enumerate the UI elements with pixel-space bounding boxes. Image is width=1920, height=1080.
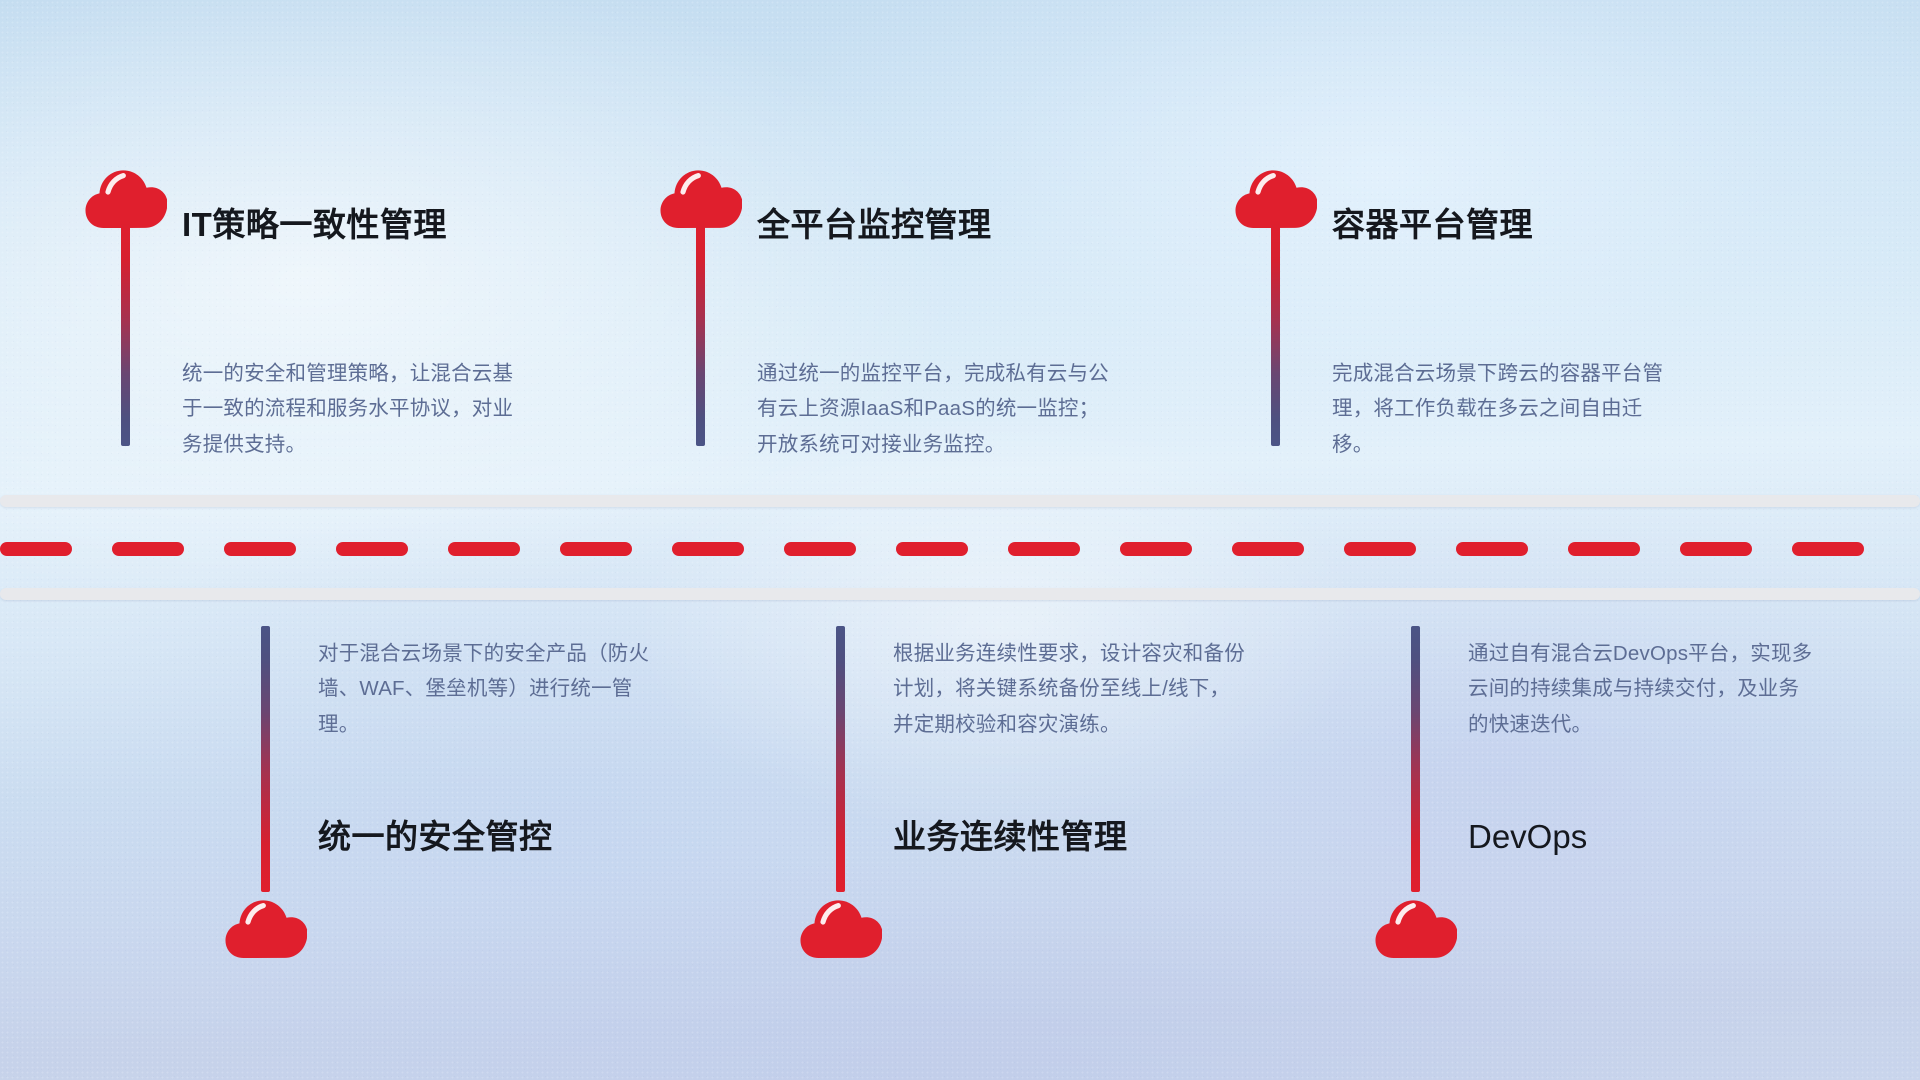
stem-line (261, 626, 270, 892)
node-desc-container-platform: 完成混合云场景下跨云的容器平台管理，将工作负载在多云之间自由迁移。 (1332, 356, 1677, 462)
node-title-container-platform: 容器平台管理 (1332, 208, 1533, 241)
node-desc-it-policy-consistency: 统一的安全和管理策略，让混合云基于一致的流程和服务水平协议，对业务提供支持。 (182, 356, 527, 462)
stem-line (1411, 626, 1420, 892)
road-dash-segment (1456, 542, 1528, 556)
road-edge-line-bottom (0, 588, 1920, 600)
road-dash-segment (560, 542, 632, 556)
node-desc-unified-security-control: 对于混合云场景下的安全产品（防火墙、WAF、堡垒机等）进行统一管理。 (318, 636, 663, 742)
cloud-icon (1373, 892, 1457, 960)
cloud-icon (223, 892, 307, 960)
road-dash-segment (1680, 542, 1752, 556)
road-dash-segment (448, 542, 520, 556)
node-title-unified-security-control: 统一的安全管控 (318, 820, 553, 853)
road-dash-segment (896, 542, 968, 556)
stem-line (1271, 218, 1280, 446)
node-title-business-continuity: 业务连续性管理 (893, 820, 1128, 853)
road-dash-segment (336, 542, 408, 556)
cloud-icon (798, 892, 882, 960)
infographic-canvas: IT策略一致性管理 统一的安全和管理策略，让混合云基于一致的流程和服务水平协议，… (0, 0, 1920, 1080)
road-edge-line-top (0, 495, 1920, 507)
road-dash-segment (784, 542, 856, 556)
road-dash-segment (672, 542, 744, 556)
road-dash-segment (112, 542, 184, 556)
stem-line (121, 218, 130, 446)
road-dash-segment (1232, 542, 1304, 556)
node-title-devops: DevOps (1468, 820, 1587, 853)
node-desc-devops: 通过自有混合云DevOps平台，实现多云间的持续集成与持续交付，及业务的快速迭代… (1468, 636, 1813, 742)
road-dashed-center-line (0, 542, 1920, 556)
road-dash-segment (0, 542, 72, 556)
stem-line (696, 218, 705, 446)
stem-line (836, 626, 845, 892)
node-desc-business-continuity: 根据业务连续性要求，设计容灾和备份计划，将关键系统备份至线上/线下，并定期校验和… (893, 636, 1248, 742)
road-dash-segment (1120, 542, 1192, 556)
node-title-full-platform-monitoring: 全平台监控管理 (757, 208, 992, 241)
node-desc-full-platform-monitoring: 通过统一的监控平台，完成私有云与公有云上资源IaaS和PaaS的统一监控；开放系… (757, 356, 1112, 462)
road-dash-segment (1008, 542, 1080, 556)
road-dash-segment (1568, 542, 1640, 556)
road-dash-segment (1792, 542, 1864, 556)
road-dash-segment (1344, 542, 1416, 556)
road-dash-segment (224, 542, 296, 556)
node-title-it-policy-consistency: IT策略一致性管理 (182, 208, 447, 241)
